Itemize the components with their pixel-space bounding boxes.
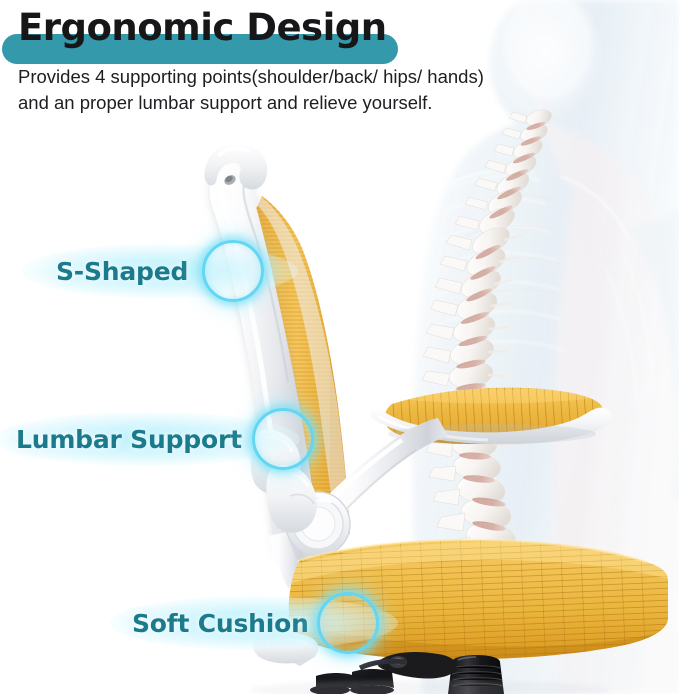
callout-lumbar-support[interactable]: Lumbar Support [4,408,314,470]
highlight-ring-s-shaped[interactable] [202,240,264,302]
infographic-canvas: S-Shaped Lumbar Support Soft Cushion Erg… [0,0,679,694]
callout-label-lumbar-support: Lumbar Support [16,425,242,454]
highlight-ring-soft-cushion[interactable] [317,592,379,654]
callout-label-soft-cushion: Soft Cushion [132,609,309,638]
callout-s-shaped[interactable]: S-Shaped [30,240,300,302]
feature-callouts: S-Shaped Lumbar Support Soft Cushion [0,0,679,694]
highlight-ring-lumbar-support[interactable] [252,408,314,470]
callout-soft-cushion[interactable]: Soft Cushion [124,592,404,654]
callout-label-s-shaped: S-Shaped [56,257,188,286]
